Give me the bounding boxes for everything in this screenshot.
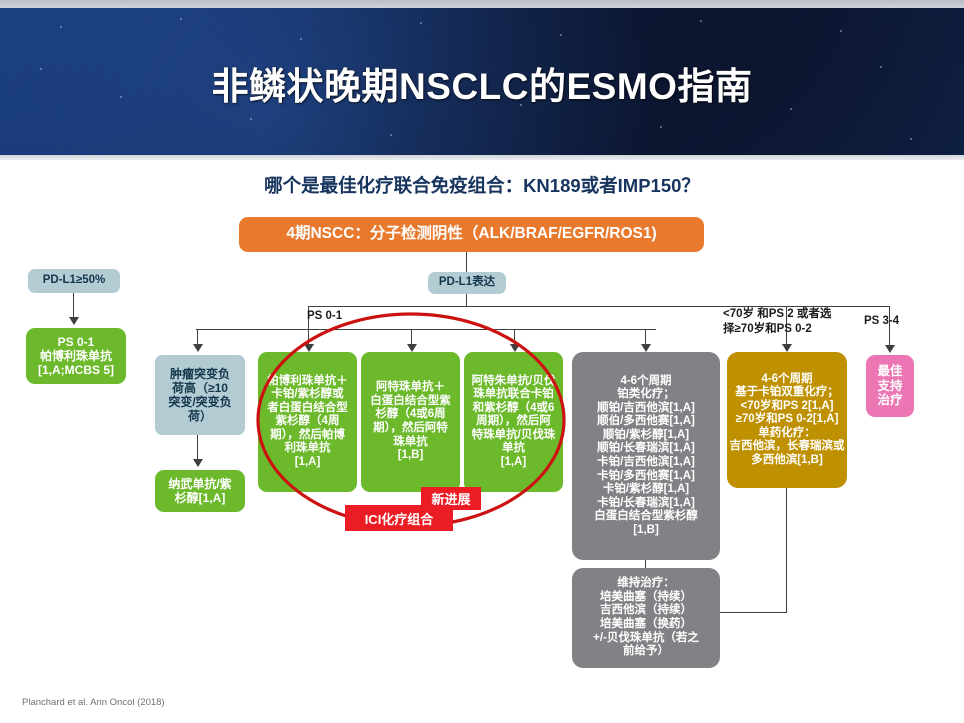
connector-ps01-fanout (196, 329, 656, 330)
label-ps-3-4: PS 3-4 (864, 314, 899, 329)
label-ps-0-1: PS 0-1 (307, 309, 342, 324)
label-age-ps-group: <70岁 和PS 2 或者选 择≥70岁和PS 0-2 (723, 307, 873, 336)
arrow-ps01-branch-2 (304, 344, 314, 352)
page-title: 非鳞状晚期NSCLC的ESMO指南 (0, 56, 964, 110)
node-nivolumab-paclitaxel: 纳武单抗/紫 杉醇[1,A] (155, 470, 245, 512)
banner-bottom-edge (0, 155, 964, 160)
arrow-agegroup-to-gold (782, 344, 792, 352)
tag-ici-chemo-combo: ICI化疗组合 (345, 505, 453, 531)
arrow-pdl1ge50-down (69, 317, 79, 325)
node-pdl1-expression: PD-L1表达 (428, 272, 506, 294)
connector-gold-down (786, 488, 787, 613)
node-maintenance-therapy: 维持治疗： 培美曲塞（持续） 吉西他滨（持续） 培美曲塞（换药） +/-贝伐珠单… (572, 568, 720, 668)
slide-root: 非鳞状晚期NSCLC的ESMO指南 哪个是最佳化疗联合免疫组合：KN189或者I… (0, 0, 964, 723)
connector-chemo-to-maintenance (645, 560, 646, 568)
subtitle: 哪个是最佳化疗联合免疫组合：KN189或者IMP150？ (0, 172, 964, 198)
connector-root-to-pdl1 (466, 252, 467, 272)
top-strip (0, 0, 964, 8)
node-pdl1-ge50: PD-L1≥50% (28, 269, 120, 293)
arrow-ps01-branch-4 (510, 344, 520, 352)
connector-pdl1-down (466, 294, 467, 307)
connector-gold-to-maintenance (720, 612, 787, 613)
node-carboplatin-based: 4-6个周期 基于卡铂双重化疗； <70岁和PS 2[1,A] ≥70岁和PS … (727, 352, 847, 488)
node-best-supportive-care: 最佳 支持 治疗 (866, 355, 914, 417)
arrow-ps01-branch-1 (193, 344, 203, 352)
connector-tmb-to-nivo (197, 435, 198, 460)
node-ici-combo-1: 帕博利珠单抗＋ 卡铂/紫杉醇或 者白蛋白结合型 紫杉醇（4周 期），然后帕博 利… (258, 352, 357, 492)
node-platinum-chemotherapy: 4-6个周期 铂类化疗； 顺铂/吉西他滨[1,A] 顺伯/多西他赛[1,A] 顺… (572, 352, 720, 560)
node-ici-combo-2: 阿特珠单抗＋ 白蛋白结合型紫 杉醇（4或6周 期），然后阿特 珠单抗 [1,B] (361, 352, 460, 492)
node-ici-combo-3: 阿特朱单抗/贝伐 珠单抗联合卡铂 和紫杉醇（4或6 周期），然后阿 特珠单抗/贝… (464, 352, 563, 492)
arrow-ps01-branch-5 (641, 344, 651, 352)
node-tmb-high: 肿瘤突变负 荷高（≥10 突变/突变负 荷） (155, 355, 245, 435)
connector-ps34-down (889, 326, 890, 347)
arrow-ps01-branch-3 (407, 344, 417, 352)
arrow-tmb-to-nivo (193, 459, 203, 467)
arrow-ps34-down (885, 345, 895, 353)
connector-pdl1ge50-down (73, 293, 74, 318)
citation: Planchard et al. Ann Oncol (2018) (22, 697, 165, 708)
title-banner: 非鳞状晚期NSCLC的ESMO指南 (0, 8, 964, 155)
node-pembrolizumab-mono: PS 0-1 帕博利珠单抗 [1,A;MCBS 5] (26, 328, 126, 384)
node-stage4-nscc: 4期NSCC：分子检测阴性（ALK/BRAF/EGFR/ROS1) (239, 217, 704, 252)
